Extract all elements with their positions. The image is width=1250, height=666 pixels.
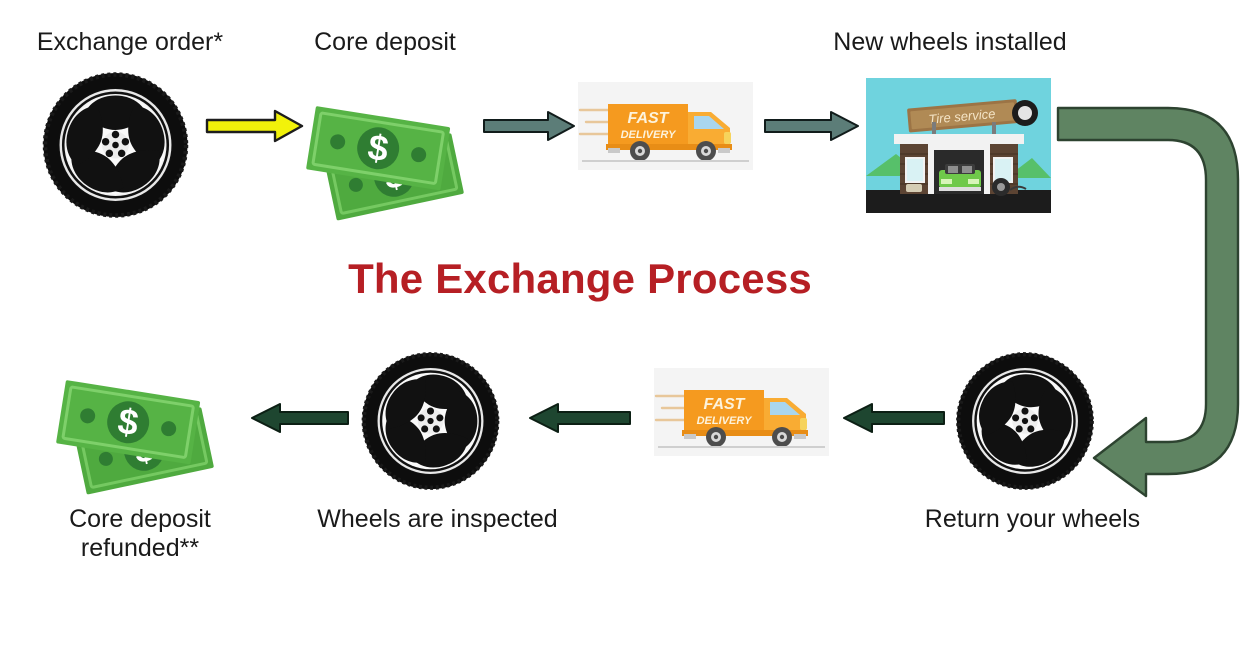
delivery-truck-icon-return: FAST DELIVERY [654,368,829,456]
arrow-deposit-to-truck [482,110,577,142]
arrow-truck-to-inspection [524,402,632,434]
money-icon-core-deposit: $ $ [308,78,478,203]
step-label-return-your-wheels: Return your wheels [890,505,1175,534]
arrow-order-to-deposit [205,108,305,144]
truck-label-delivery: DELIVERY [621,129,677,141]
step-label-wheels-inspected: Wheels are inspected [285,505,590,534]
step-label-core-deposit-refunded: Core deposit refunded** [35,505,245,563]
delivery-truck-icon-outbound: FAST DELIVERY [578,82,753,170]
footnotes-right: -Same size same spoke pattern -No chrome… [856,595,1176,666]
wheel-icon-return-your-wheels [952,350,1098,492]
tire-service-garage-icon: Tire service [866,78,1051,213]
page-title: The Exchange Process [0,255,1160,303]
footnotes-left: *Please send us a picture of your wheel.… [30,592,339,666]
truck-label-fast: FAST [628,110,670,127]
footnote-right-1: -Same size same spoke pattern [856,648,1176,666]
exchange-process-diagram: Exchange order* Core deposit New wheels … [0,0,1250,666]
step-label-new-wheels-installed: New wheels installed [790,28,1110,57]
svg-text:FAST: FAST [704,396,746,413]
step-label-exchange-order: Exchange order* [0,28,260,57]
arrow-inspection-to-refund [246,402,350,434]
arrow-truck-to-garage [763,110,861,142]
wheel-icon-wheels-inspected [358,350,503,492]
svg-text:DELIVERY: DELIVERY [697,415,753,427]
wheel-icon-exchange-order [38,70,193,220]
money-icon-core-deposit-refunded: $ $ [58,352,228,477]
arrow-return-to-truck [838,402,946,434]
step-label-core-deposit: Core deposit [270,28,500,57]
footnote-left-1: *Please send us a picture of your wheel. [30,645,339,666]
